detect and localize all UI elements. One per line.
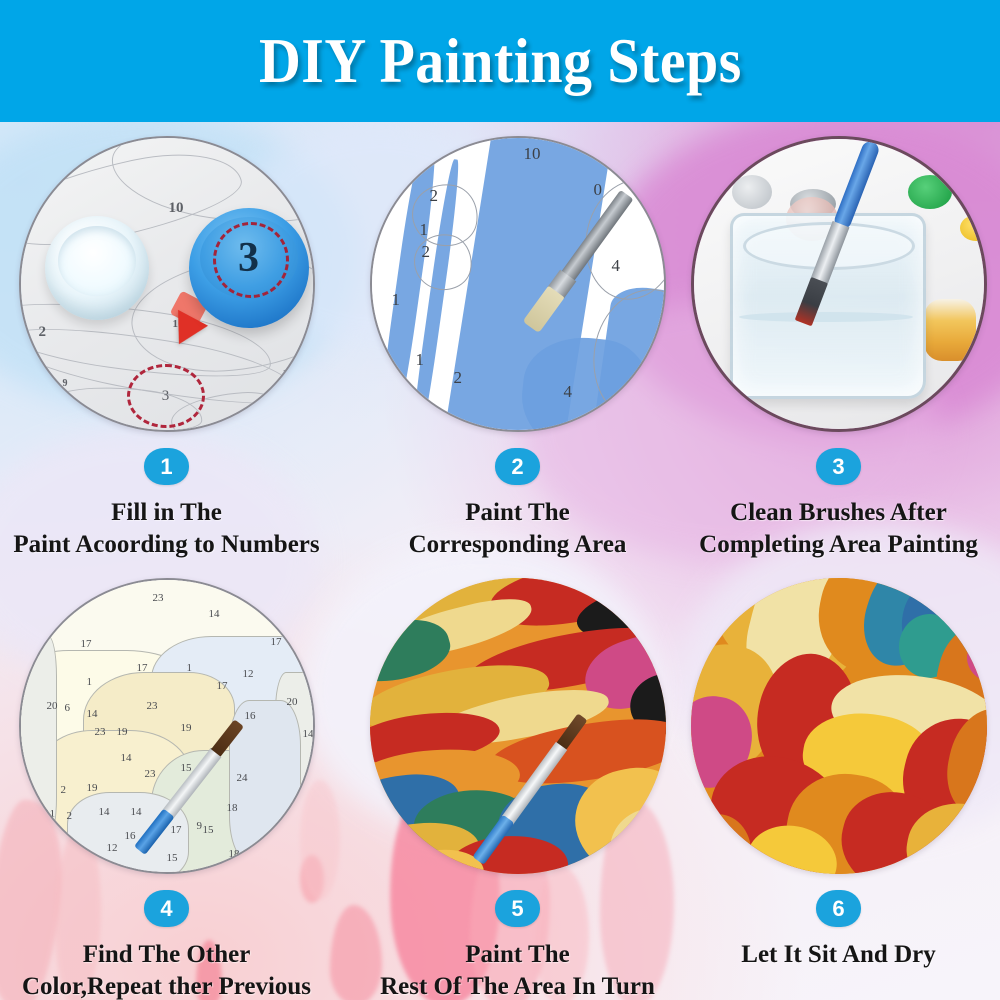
step-caption-4: Find The Other Color,Repeat ther Previou… — [0, 939, 333, 1000]
step-caption-3: Clean Brushes After Completing Area Pain… — [672, 497, 1000, 560]
canvas-number: 15 — [167, 852, 178, 864]
canvas-number: 4 — [564, 382, 573, 402]
step-badge-1: 1 — [144, 448, 189, 485]
finished-painting-illustration — [691, 578, 987, 874]
red-paint-pot-icon — [978, 317, 987, 359]
step-caption-6: Let It Sit And Dry — [672, 939, 1000, 971]
step-card-2: 10 2 1 2 1 4 1 2 4 0 — [351, 136, 684, 560]
step-card-3: 3 Clean Brushes After Completing Area Pa… — [672, 136, 1000, 560]
step-1-image: 10 2 10 1 9 3 3 — [19, 136, 315, 432]
steps-grid: 10 2 10 1 9 3 3 — [0, 122, 1000, 1000]
canvas-number: 1 — [283, 366, 289, 381]
white-paint-pot-icon — [45, 216, 149, 320]
dashed-target-area: 3 — [127, 364, 205, 428]
canvas-number: 19 — [117, 726, 128, 738]
header-banner: DIY Painting Steps — [0, 0, 1000, 122]
page-title: DIY Painting Steps — [259, 25, 742, 98]
canvas-number: 2 — [39, 324, 47, 341]
canvas-number: 0 — [594, 180, 603, 200]
canvas-number: 2 — [67, 810, 73, 822]
blue-paint-pot-icon: 3 — [189, 208, 309, 328]
canvas-number: 16 — [119, 868, 130, 874]
green-paint-pot-icon — [908, 175, 952, 209]
canvas-number: 24 — [237, 772, 248, 784]
step-caption-2: Paint The Corresponding Area — [351, 497, 684, 560]
canvas-number: 14 — [303, 728, 314, 740]
canvas-number: 2 — [422, 242, 431, 262]
canvas-number: 9 — [63, 378, 68, 389]
step-badge-6: 6 — [816, 890, 861, 927]
canvas-number: 14 — [87, 708, 98, 720]
canvas-number: 1 — [87, 676, 93, 688]
canvas-number: 15 — [203, 824, 214, 836]
canvas-number: 19 — [181, 722, 192, 734]
step-caption-1: Fill in The Paint Acoording to Numbers — [0, 497, 333, 560]
canvas-number: 6 — [65, 702, 71, 714]
canvas-number: 1 — [416, 350, 425, 370]
canvas-number: 5 — [303, 808, 309, 820]
canvas-number: 12 — [107, 842, 118, 854]
canvas-number: 1 — [187, 662, 193, 674]
step-5-image — [370, 578, 666, 874]
step-card-1: 10 2 10 1 9 3 3 — [0, 136, 333, 560]
canvas-number: 4 — [612, 256, 621, 276]
canvas-number: 10 — [524, 144, 541, 164]
canvas-number: 2 — [454, 368, 463, 388]
brush-painting-blue-area-illustration: 10 2 1 2 1 4 1 2 4 0 — [372, 138, 664, 430]
canvas-number: 17 — [81, 638, 92, 650]
step-badge-3: 3 — [816, 448, 861, 485]
canvas-number: 2 — [277, 848, 283, 860]
step-caption-5: Paint The Rest Of The Area In Turn — [351, 939, 684, 1000]
step-2-image: 10 2 1 2 1 4 1 2 4 0 — [370, 136, 666, 432]
step-badge-2: 2 — [495, 448, 540, 485]
canvas-number: 14 — [131, 806, 142, 818]
canvas-number: 23 — [153, 592, 164, 604]
canvas-number: 16 — [125, 830, 136, 842]
canvas-number: 17 — [271, 636, 282, 648]
canvas-number: 14 — [209, 608, 220, 620]
step-6-image — [691, 578, 987, 874]
canvas-number: 14 — [121, 752, 132, 764]
canvas-number: 12 — [243, 668, 254, 680]
canvas-number: 10 — [169, 200, 184, 217]
canvas-number: 16 — [245, 710, 256, 722]
canvas-number: 23 — [95, 726, 106, 738]
canvas-number: 20 — [287, 696, 298, 708]
orange-paint-pot-icon — [924, 299, 976, 361]
canvas-number: 17 — [217, 680, 228, 692]
canvas-number: 1 — [392, 290, 401, 310]
step-3-image — [691, 136, 987, 432]
canvas-number: 9 — [193, 870, 199, 874]
canvas-number: 2 — [61, 784, 67, 796]
brush-rinsing-in-water-glass-illustration — [694, 139, 984, 429]
step-card-5: 5 Paint The Rest Of The Area In Turn — [351, 578, 684, 1000]
canvas-number: 17 — [171, 824, 182, 836]
partly-finished-painting-illustration — [370, 578, 666, 874]
canvas-number: 20 — [47, 700, 58, 712]
paint-pots-on-canvas-illustration: 10 2 10 1 9 3 3 — [21, 138, 313, 430]
step-4-image: 23 14 17 17 1 17 12 1 17 23 14 16 23 19 — [19, 578, 315, 874]
numbered-canvas-illustration: 23 14 17 17 1 17 12 1 17 23 14 16 23 19 — [21, 580, 313, 872]
canvas-number: 18 — [227, 802, 238, 814]
canvas-number: 1 — [420, 220, 429, 240]
step-card-4: 23 14 17 17 1 17 12 1 17 23 14 16 23 19 — [0, 578, 333, 1000]
canvas-number: 23 — [145, 768, 156, 780]
canvas-number: 23 — [147, 700, 158, 712]
step-badge-5: 5 — [495, 890, 540, 927]
canvas-number: 11 — [45, 808, 56, 820]
canvas-number: 9 — [197, 820, 203, 832]
canvas-number: 19 — [87, 782, 98, 794]
dashed-circle-highlight-icon — [213, 222, 289, 298]
step-badge-4: 4 — [144, 890, 189, 927]
canvas-number: 2 — [430, 186, 439, 206]
step-card-6: 6 Let It Sit And Dry — [672, 578, 1000, 971]
yellow-paint-pot-icon — [960, 215, 987, 241]
canvas-number: 18 — [229, 848, 240, 860]
canvas-number: 14 — [99, 806, 110, 818]
poster: DIY Painting Steps 10 2 10 1 9 — [0, 0, 1000, 1000]
canvas-number: 17 — [137, 662, 148, 674]
